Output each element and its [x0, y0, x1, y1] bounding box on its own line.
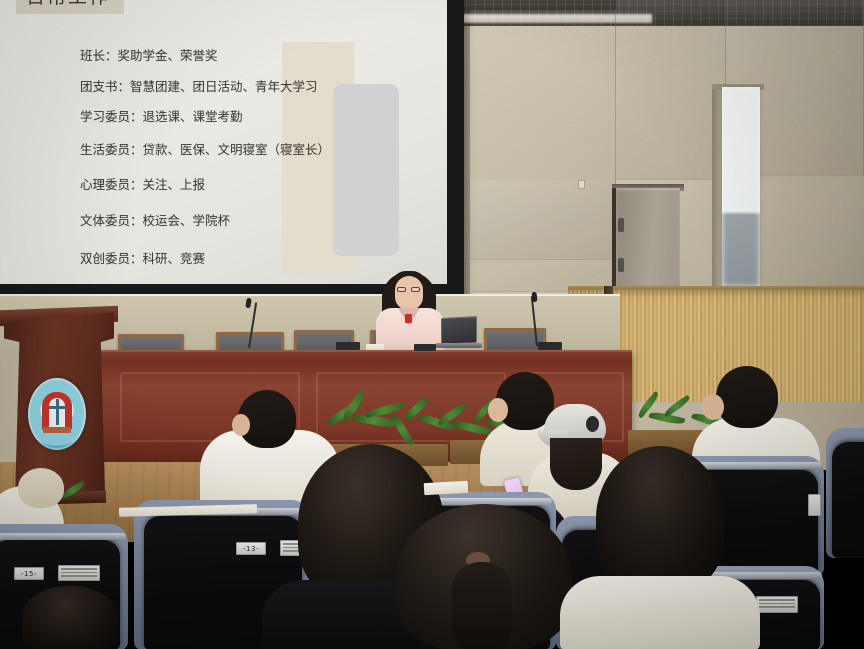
wall-panel: [470, 180, 616, 292]
desk-paper: [366, 344, 384, 350]
glasses-right-icon: [411, 287, 420, 292]
glasses-left-icon: [397, 287, 406, 292]
cap-vent-icon: [586, 416, 599, 432]
tall-window: [722, 87, 760, 287]
audience-member-hair: [550, 438, 602, 490]
seat-number: -13-: [236, 542, 266, 555]
seat-rail: [0, 533, 126, 540]
microphone-head: [531, 292, 537, 302]
emblem-base-icon: [43, 427, 71, 433]
projection-screen: 日常工作 班长：奖助学金、荣誉奖 团支书：智慧团建、团日活动、青年大学习 学习委…: [0, 0, 447, 284]
seat-info-plate: [58, 565, 100, 581]
ponytail: [452, 562, 512, 649]
desk-device: [336, 342, 360, 350]
slide-line: 班长：奖助学金、荣誉奖: [80, 50, 360, 63]
audience-member-ear: [702, 394, 724, 420]
emblem-pillar-icon: [56, 399, 59, 425]
audience-member-ear: [488, 398, 508, 422]
slide-line: 文体委员：校运会、学院杯: [80, 215, 360, 228]
laptop-base: [436, 343, 482, 348]
presenter-badge: [405, 314, 412, 323]
laptop-screen: [441, 316, 477, 345]
desk-device: [538, 342, 562, 350]
wall-switch[interactable]: [578, 180, 585, 189]
slide-title: 日常工作: [26, 0, 110, 9]
seat-number: -15-: [14, 567, 44, 580]
seat-clip: [808, 494, 821, 516]
slide-line: 团支书：智慧团建、团日活动、青年大学习: [80, 81, 360, 94]
audience-member-head: [18, 468, 64, 508]
desk-device: [414, 344, 436, 351]
wall-panel: [616, 0, 726, 180]
desk-paper: [424, 481, 469, 495]
door-hinge-icon: [618, 258, 624, 272]
presenter-face: [395, 276, 423, 310]
slide-body: 班长：奖助学金、荣誉奖 团支书：智慧团建、团日活动、青年大学习 学习委员：退选课…: [80, 44, 360, 284]
emblem-bar-icon: [49, 406, 65, 409]
screen-frame: 日常工作 班长：奖助学金、荣誉奖 团支书：智慧团建、团日活动、青年大学习 学习委…: [0, 0, 464, 298]
seat-info-plate: [756, 596, 798, 613]
lecture-hall-photo: 日常工作 班长：奖助学金、荣誉奖 团支书：智慧团建、团日活动、青年大学习 学习委…: [0, 0, 864, 649]
foreground-head: [22, 586, 118, 649]
slide-line: 生活委员：贷款、医保、文明寝室（寝室长）: [80, 144, 360, 157]
door-hinge-icon: [618, 218, 624, 232]
foreground-head: [596, 446, 724, 592]
audience-member-ear: [232, 414, 250, 436]
audience-member-head: [716, 366, 778, 428]
slide-line: 双创委员：科研、竞赛: [80, 253, 360, 266]
slide-line: 心理委员：关注、上报: [80, 179, 360, 192]
seat-back[interactable]: [832, 442, 864, 558]
slide-line: 学习委员：退选课、课堂考勤: [80, 111, 360, 124]
foreground-shoulders: [560, 576, 760, 649]
